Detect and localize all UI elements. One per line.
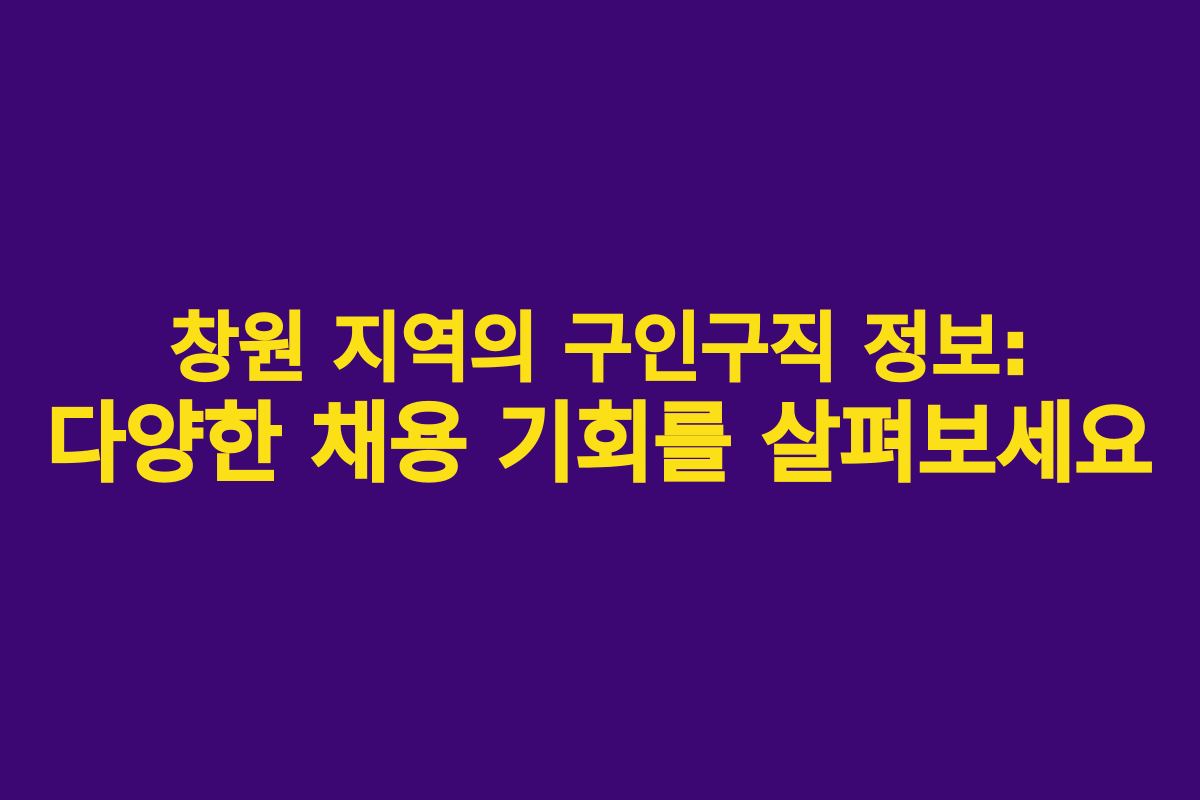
headline-block: 창원 지역의 구인구직 정보: 다양한 채용 기회를 살펴보세요: [47, 307, 1153, 492]
headline-line-2: 다양한 채용 기회를 살펴보세요: [47, 397, 1153, 491]
headline-line-1: 창원 지역의 구인구직 정보:: [47, 307, 1153, 390]
promo-banner: 창원 지역의 구인구직 정보: 다양한 채용 기회를 살펴보세요: [0, 0, 1200, 800]
